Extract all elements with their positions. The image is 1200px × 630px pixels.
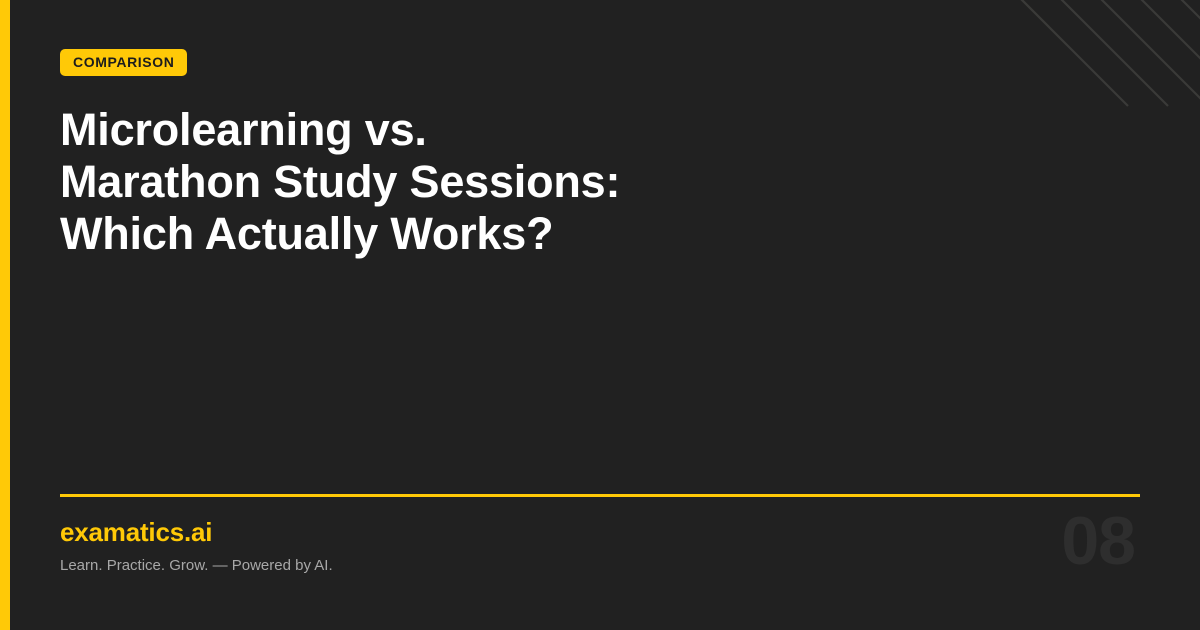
left-accent-bar — [0, 0, 10, 630]
title-line-2: Marathon Study Sessions: — [60, 156, 960, 208]
brand-tagline: Learn. Practice. Grow. — Powered by AI. — [60, 558, 333, 573]
slide-content: COMPARISON Microlearning vs. Marathon St… — [60, 0, 1140, 630]
footer-divider — [60, 494, 1140, 497]
title-line-1: Microlearning vs. — [60, 104, 960, 156]
brand-name: examatics.ai — [60, 519, 212, 545]
page-number: 08 — [1061, 507, 1135, 575]
slide-canvas: COMPARISON Microlearning vs. Marathon St… — [0, 0, 1200, 630]
page-title: Microlearning vs. Marathon Study Session… — [60, 104, 960, 260]
category-badge: COMPARISON — [60, 49, 187, 76]
slide-footer: examatics.ai Learn. Practice. Grow. — Po… — [60, 512, 1140, 592]
title-line-3: Which Actually Works? — [60, 208, 960, 260]
